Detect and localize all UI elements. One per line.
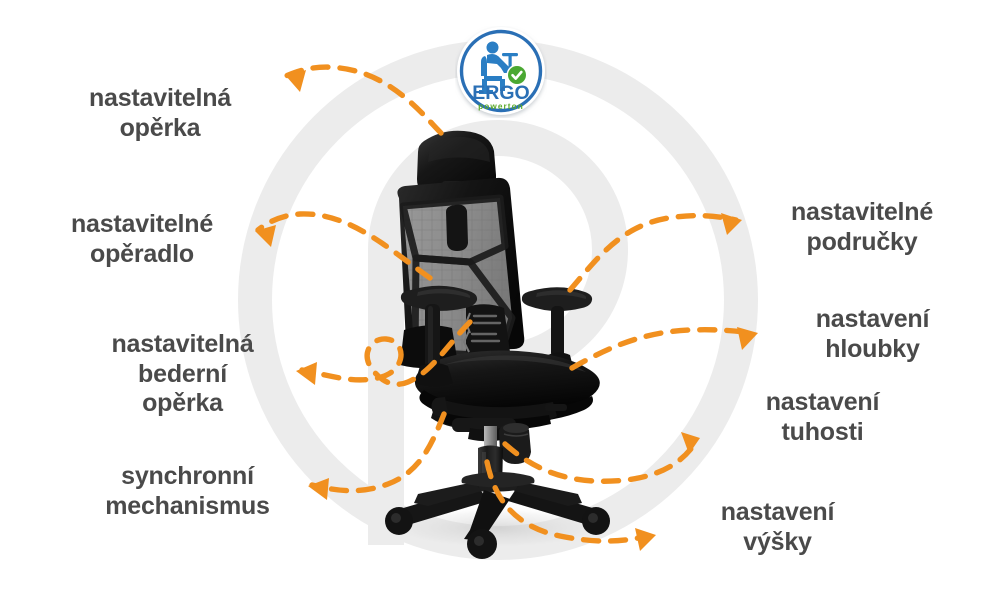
badge-title: ERGO — [472, 82, 529, 104]
infographic-canvas: nastavitelná opěrka nastavitelné opěradl… — [0, 0, 1000, 600]
ergo-powerton-badge: ERGO powerton — [455, 26, 547, 118]
badge-subtitle: powerton — [478, 102, 524, 111]
